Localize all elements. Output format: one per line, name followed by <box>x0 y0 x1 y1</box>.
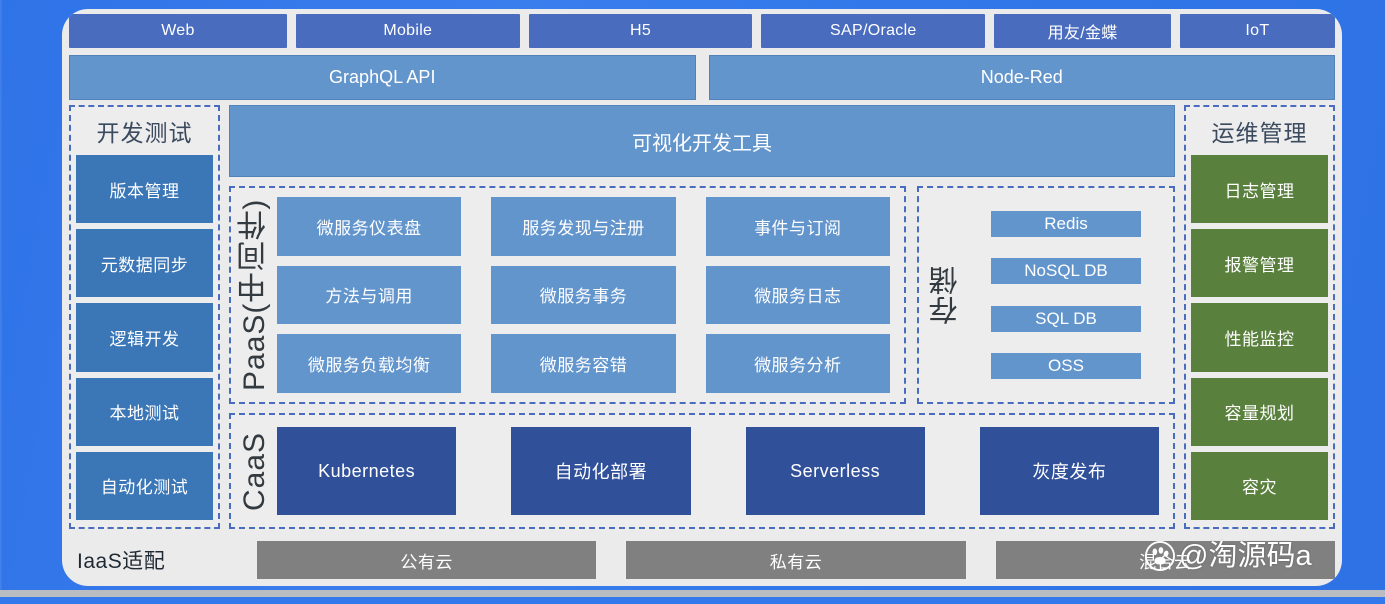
dev-item-version-management[interactable]: 版本管理 <box>76 155 213 223</box>
visual-dev-tool-bar[interactable]: 可视化开发工具 <box>229 105 1175 177</box>
caas-item-kubernetes[interactable]: Kubernetes <box>277 427 456 515</box>
channel-h5[interactable]: H5 <box>529 14 753 48</box>
paas-item-discovery[interactable]: 服务发现与注册 <box>491 197 675 256</box>
paas-vertical-label: PaaS(中间件) <box>235 194 275 396</box>
bottom-blue-strip <box>0 597 1385 604</box>
api-layer-row: GraphQL API Node-Red <box>69 55 1335 100</box>
channel-mobile[interactable]: Mobile <box>296 14 520 48</box>
paas-item-logs[interactable]: 微服务日志 <box>706 266 890 325</box>
ops-management-panel: 运维管理 日志管理 报警管理 性能监控 容量规划 容灾 <box>1184 105 1335 529</box>
dev-item-logic-development[interactable]: 逻辑开发 <box>76 303 213 371</box>
ops-item-log-management[interactable]: 日志管理 <box>1191 155 1328 223</box>
ops-item-performance-monitor[interactable]: 性能监控 <box>1191 303 1328 371</box>
paas-item-dashboard[interactable]: 微服务仪表盘 <box>277 197 461 256</box>
storage-item-sql-db[interactable]: SQL DB <box>991 306 1141 332</box>
storage-vertical-label: 存储 <box>923 194 969 396</box>
channel-sap-oracle[interactable]: SAP/Oracle <box>761 14 985 48</box>
dev-test-panel: 开发测试 版本管理 元数据同步 逻辑开发 本地测试 自动化测试 <box>69 105 220 529</box>
paas-storage-row: PaaS(中间件) 微服务仪表盘 服务发现与注册 事件与订阅 方法与调用 微服务… <box>229 186 1175 404</box>
storage-section: 存储 Redis NoSQL DB SQL DB OSS <box>917 186 1175 404</box>
paas-item-method-invoke[interactable]: 方法与调用 <box>277 266 461 325</box>
architecture-diagram-card: Web Mobile H5 SAP/Oracle 用友/金蝶 IoT Graph… <box>62 9 1342 586</box>
iaas-item-hybrid-cloud[interactable]: 混合云 <box>996 541 1335 579</box>
paas-item-transaction[interactable]: 微服务事务 <box>491 266 675 325</box>
iaas-item-public-cloud[interactable]: 公有云 <box>257 541 596 579</box>
paas-item-analytics[interactable]: 微服务分析 <box>706 334 890 393</box>
caas-section: CaaS Kubernetes 自动化部署 Serverless 灰度发布 <box>229 413 1175 529</box>
ops-item-capacity-planning[interactable]: 容量规划 <box>1191 378 1328 446</box>
paas-section: PaaS(中间件) 微服务仪表盘 服务发现与注册 事件与订阅 方法与调用 微服务… <box>229 186 906 404</box>
ops-item-disaster-recovery[interactable]: 容灾 <box>1191 452 1328 520</box>
center-column: 可视化开发工具 PaaS(中间件) 微服务仪表盘 服务发现与注册 事件与订阅 方… <box>229 105 1175 529</box>
paas-item-events[interactable]: 事件与订阅 <box>706 197 890 256</box>
storage-item-oss[interactable]: OSS <box>991 353 1141 379</box>
api-node-red[interactable]: Node-Red <box>709 55 1336 100</box>
channel-row: Web Mobile H5 SAP/Oracle 用友/金蝶 IoT <box>69 14 1335 48</box>
iaas-label: IaaS适配 <box>77 545 227 575</box>
dev-item-metadata-sync[interactable]: 元数据同步 <box>76 229 213 297</box>
iaas-item-private-cloud[interactable]: 私有云 <box>626 541 965 579</box>
ops-item-alarm-management[interactable]: 报警管理 <box>1191 229 1328 297</box>
storage-item-redis[interactable]: Redis <box>991 211 1141 237</box>
paas-item-load-balance[interactable]: 微服务负载均衡 <box>277 334 461 393</box>
dev-item-local-test[interactable]: 本地测试 <box>76 378 213 446</box>
caas-grid: Kubernetes 自动化部署 Serverless 灰度发布 <box>275 422 1163 520</box>
channel-yonyou-kingdee[interactable]: 用友/金蝶 <box>994 14 1171 48</box>
dev-item-automated-test[interactable]: 自动化测试 <box>76 452 213 520</box>
channel-web[interactable]: Web <box>69 14 287 48</box>
caas-item-canary-release[interactable]: 灰度发布 <box>980 427 1159 515</box>
channel-iot[interactable]: IoT <box>1180 14 1335 48</box>
caas-vertical-label: CaaS <box>235 422 275 520</box>
caas-item-serverless[interactable]: Serverless <box>746 427 925 515</box>
api-graphql[interactable]: GraphQL API <box>69 55 696 100</box>
storage-list: Redis NoSQL DB SQL DB OSS <box>969 194 1165 396</box>
ops-management-title: 运维管理 <box>1191 113 1328 149</box>
bottom-gray-strip <box>0 590 1385 597</box>
paas-grid: 微服务仪表盘 服务发现与注册 事件与订阅 方法与调用 微服务事务 微服务日志 微… <box>275 194 896 396</box>
caas-item-automated-deploy[interactable]: 自动化部署 <box>511 427 690 515</box>
iaas-row: IaaS适配 公有云 私有云 混合云 <box>69 537 1335 583</box>
dev-test-title: 开发测试 <box>76 113 213 149</box>
paas-item-fault-tolerance[interactable]: 微服务容错 <box>491 334 675 393</box>
storage-item-nosql-db[interactable]: NoSQL DB <box>991 258 1141 284</box>
middle-area: 开发测试 版本管理 元数据同步 逻辑开发 本地测试 自动化测试 可视化开发工具 … <box>69 105 1335 529</box>
